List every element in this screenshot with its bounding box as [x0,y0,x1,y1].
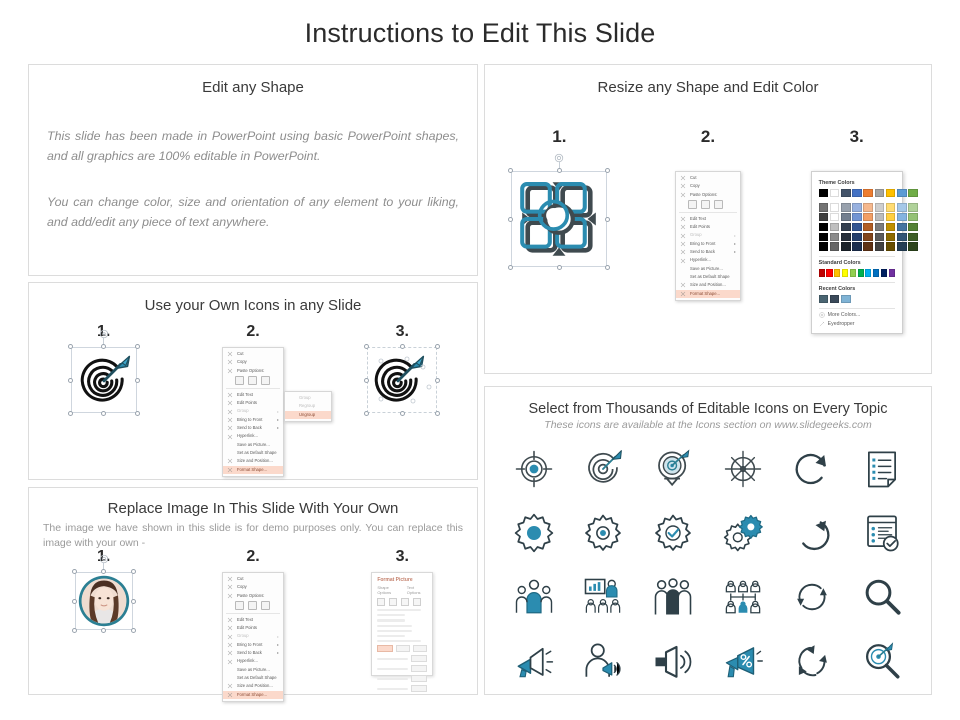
rotate-clockwise-icon [791,448,833,490]
color-swatch[interactable] [858,269,864,277]
icon-cell[interactable] [847,507,917,559]
picture-context-menu[interactable]: CutCopyPaste Options:Edit TextEdit Point… [222,572,284,702]
icon-cell[interactable] [638,443,708,495]
paste-picture-icon[interactable] [248,601,257,610]
handle-bottom-left[interactable] [508,265,513,270]
color-swatch[interactable] [897,242,907,250]
three-people-icon [652,576,694,618]
context-menu-item[interactable]: Cut [223,575,283,583]
swatch-gap [897,199,907,202]
context-menu-item[interactable]: Send to Back▸ [676,248,740,256]
color-swatch[interactable] [841,223,851,231]
palette-icon [819,312,825,318]
context-menu-item[interactable]: Group▸ [223,632,283,640]
context-menu-item-label: Size and Position... [690,282,726,288]
scissors-icon [680,175,686,181]
pane-field[interactable] [411,665,427,672]
context-menu-item[interactable]: Set as Default Shape [223,674,283,682]
color-swatch[interactable] [886,242,896,250]
paste-text-icon[interactable] [261,376,270,385]
color-swatch[interactable] [842,269,848,277]
context-menu-item[interactable]: Bring to Front▸ [676,240,740,248]
context-menu-item[interactable]: Size and Position... [223,682,283,690]
icon-cell[interactable] [778,443,848,495]
context-menu-item-label: Hyperlink... [690,257,711,263]
handle-bottom-right[interactable] [135,411,140,416]
color-swatch[interactable] [819,189,829,197]
own-icons-step-3: 3. [328,323,477,473]
fill-swatch[interactable] [377,645,393,652]
color-swatch[interactable] [875,233,885,241]
color-swatch[interactable] [826,269,832,277]
context-menu-item-label: Paste Options: [237,593,264,599]
context-menu-item[interactable]: Set as Default Shape [223,449,283,457]
chevron-right-icon: ▸ [277,425,279,431]
pane-row [377,668,408,670]
context-menu-item-label: Save as Picture... [690,266,723,272]
color-swatch[interactable] [830,242,840,250]
icon-cell[interactable] [778,507,848,559]
context-menu[interactable]: CutCopyPaste Options:Edit TextEdit Point… [222,572,284,702]
target-icon-selected[interactable] [71,347,137,413]
effects-icon[interactable] [389,598,397,606]
context-menu-item[interactable]: Bring to Front▸ [223,641,283,649]
color-swatch[interactable] [881,269,887,277]
color-picker-dropdown[interactable]: Theme Colors Standard Colors Recent Colo… [811,171,903,334]
loudspeaker-icon [652,640,694,682]
context-menu-item[interactable]: Format Shape... [223,466,283,474]
context-menu-item[interactable]: Group▸ [676,231,740,239]
color-swatch[interactable] [875,213,885,221]
color-swatch[interactable] [889,269,895,277]
context-menu-item-label: Format Shape... [237,467,267,473]
megaphone-discount-icon [722,640,764,682]
color-swatch[interactable] [841,242,851,250]
context-menu-item-label: Edit Text [237,392,253,398]
context-menu-ungroup[interactable]: CutCopyPaste Options:Edit TextEdit Point… [222,347,284,477]
color-swatch[interactable] [834,269,840,277]
color-swatch[interactable] [830,295,840,303]
context-menu-items: CutCopyPaste Options:Edit TextEdit Point… [676,174,740,298]
color-swatch[interactable] [819,269,825,277]
color-swatch[interactable] [908,213,918,221]
pane-field[interactable] [413,645,427,652]
handle-bottom-middle[interactable] [101,411,106,416]
context-menu-item-label: Edit Text [237,617,253,623]
context-menu-item-label: Size and Position... [237,458,273,464]
context-menu-items: CutCopyPaste Options:Edit TextEdit Point… [223,350,283,474]
eyedropper-icon [819,321,825,327]
color-swatch[interactable] [841,213,851,221]
step-number: 1. [552,127,566,147]
icon-cell[interactable] [638,571,708,623]
sub-selection-marks [367,347,437,413]
swatch-gap [908,199,918,202]
theme-color-column [908,189,918,251]
format-shape-icon [227,467,233,473]
context-menu-item[interactable]: Format Shape... [223,691,283,699]
color-swatch[interactable] [841,233,851,241]
empty-icon [227,675,233,681]
divider [819,282,895,283]
color-swatch[interactable] [841,203,851,211]
group-icon [227,634,233,640]
color-swatch[interactable] [875,242,885,250]
context-menu-item[interactable]: Copy [223,583,283,591]
eyedropper-item[interactable]: Eyedropper [819,321,895,327]
target-dart-icon [75,351,133,409]
color-swatch[interactable] [841,295,851,303]
icon-cell[interactable] [569,571,639,623]
context-menu-item[interactable]: Hyperlink... [676,256,740,264]
edit-shape-paragraph-1: This slide has been made in PowerPoint u… [47,126,459,166]
context-menu-item-label: Format Shape... [237,692,267,698]
paste-keep-format-icon[interactable] [688,200,697,209]
color-swatch[interactable] [886,223,896,231]
empty-icon [680,274,686,280]
color-swatch[interactable] [908,189,918,197]
handle-top-right[interactable] [605,168,610,173]
copy-icon [680,183,686,189]
standard-colors-label: Standard Colors [819,260,895,266]
color-swatch[interactable] [886,189,896,197]
handle-middle-left[interactable] [68,378,73,383]
color-swatch[interactable] [852,213,862,221]
paste-option-icons[interactable] [676,199,740,210]
replace-image-subtitle: The image we have shown in this slide is… [43,521,463,551]
color-swatch[interactable] [852,189,862,197]
gear-solid-icon [513,512,555,554]
context-menu-item-label: Edit Points [237,400,257,406]
paste-keep-format-icon[interactable] [235,601,244,610]
color-swatch[interactable] [886,203,896,211]
recent-colors-row[interactable] [819,295,895,303]
context-menu-item[interactable]: Send to Back▸ [223,649,283,657]
icon-cell[interactable] [708,443,778,495]
resize-step-1: 1. [485,127,634,357]
color-swatch[interactable] [873,269,879,277]
pane-row [377,619,405,621]
context-menu-item[interactable]: Group▸ [223,407,283,415]
refresh-circle-icon [791,512,833,554]
color-swatch[interactable] [863,213,873,221]
clipboard-icon [680,192,686,198]
panel-use-own-icons: Use your Own Icons in any Slide 1. [28,282,478,480]
handle-middle-right[interactable] [605,217,610,222]
context-menu-item-label: Paste Options: [690,192,717,198]
color-swatch[interactable] [908,223,918,231]
pane-row [377,614,405,616]
replace-image-step-1: 1. [29,548,178,688]
size-position-icon [227,683,233,689]
copy-icon [227,584,233,590]
target-icon-ungrouped[interactable] [367,347,437,413]
rotate-handle-icon[interactable] [99,554,109,564]
icon-cell[interactable] [778,571,848,623]
context-menu-item[interactable]: Save as Picture... [223,666,283,674]
context-menu-item[interactable]: Hyperlink... [223,432,283,440]
replace-image-step-2: 2. CutCopyPaste Options:Edit TextEdit Po… [178,548,327,688]
step-number: 3. [396,323,409,341]
pane-row [377,678,408,680]
pane-field[interactable] [411,675,427,682]
color-swatch[interactable] [852,242,862,250]
swatch-gap [863,199,873,202]
context-menu-item-label: Copy [237,359,247,365]
context-menu[interactable]: CutCopyPaste Options:Edit TextEdit Point… [222,347,284,477]
format-picture-pane[interactable]: Format Picture Shape Options Text Option… [371,572,433,676]
color-swatch[interactable] [875,223,885,231]
context-menu-item[interactable]: Copy [676,182,740,190]
pane-field[interactable] [411,685,427,692]
handle-bottom-left[interactable] [68,411,73,416]
color-swatch[interactable] [863,242,873,250]
icon-cell[interactable] [569,635,639,687]
paste-text-icon[interactable] [714,200,723,209]
context-menu-item[interactable]: Send to Back▸ [223,424,283,432]
pane-row [377,635,405,637]
handle-bottom-right[interactable] [605,265,610,270]
context-menu-item[interactable]: Paste Options: [676,191,740,199]
slide-canvas: Instructions to Edit This Slide Edit any… [0,0,960,720]
icon-cell[interactable] [708,571,778,623]
handle-top-right[interactable] [135,344,140,349]
context-menu-item[interactable]: Hyperlink... [223,657,283,665]
icon-cell[interactable] [847,443,917,495]
rotate-handle-icon[interactable] [99,329,109,339]
color-swatch[interactable] [830,233,840,241]
context-menu-item[interactable]: Cut [223,350,283,358]
hyperlink-icon [227,659,233,665]
icon-cell[interactable] [499,635,569,687]
color-swatch[interactable] [852,223,862,231]
format-pane-toolbar[interactable] [377,598,427,606]
context-menu-item-label: Send to Back [690,249,715,255]
standard-colors-row[interactable] [819,269,895,277]
context-menu-item[interactable]: Regroup [285,402,331,410]
paste-keep-format-icon[interactable] [235,376,244,385]
color-swatch[interactable] [863,189,873,197]
icon-grid [499,443,917,687]
format-pane-tab-text[interactable]: Text Options [407,585,428,595]
panel-title-icons: Select from Thousands of Editable Icons … [485,401,931,417]
context-menu-item-label: Group [237,633,249,639]
color-swatch[interactable] [830,223,840,231]
group-icon [680,233,686,239]
page-title: Instructions to Edit This Slide [0,18,960,49]
color-swatch[interactable] [908,233,918,241]
context-menu-item[interactable]: Set as Default Shape [676,273,740,281]
swatch-gap [886,199,896,202]
color-swatch[interactable] [897,189,907,197]
color-swatch[interactable] [863,203,873,211]
color-swatch[interactable] [897,213,907,221]
context-menu-item-label: Edit Text [690,216,706,222]
editable-shape-selected[interactable] [511,171,607,267]
pane-row [377,625,412,627]
context-menu-item[interactable]: Paste Options: [223,592,283,600]
portrait-image-selected[interactable] [75,572,133,630]
recent-colors-label: Recent Colors [819,286,895,292]
color-swatch[interactable] [908,203,918,211]
context-menu-item[interactable]: Edit Points [223,399,283,407]
theme-colors-grid[interactable] [819,189,895,251]
color-swatch[interactable] [830,213,840,221]
divider [226,613,280,614]
context-menu-item-label: Size and Position... [237,683,273,689]
context-menu-item-label: Hyperlink... [237,658,258,664]
panel-title-edit-shape: Edit any Shape [29,79,477,96]
color-swatch[interactable] [819,203,829,211]
fill-icon[interactable] [377,598,385,606]
icon-cell[interactable] [499,443,569,495]
context-menu-item-label: Ungroup [299,412,315,418]
paste-text-icon[interactable] [261,601,270,610]
team-group-icon [513,576,555,618]
group-icon [227,409,233,415]
context-menu-item[interactable]: Save as Picture... [223,441,283,449]
more-colors-item[interactable]: More Colors... [819,312,895,318]
color-swatch[interactable] [819,213,829,221]
color-swatch[interactable] [865,269,871,277]
context-menu-item-label: Set as Default Shape [237,675,277,681]
color-swatch[interactable] [819,233,829,241]
scissors-icon [227,576,233,582]
color-picker[interactable]: Theme Colors Standard Colors Recent Colo… [811,171,903,334]
format-shape-icon [227,692,233,698]
color-swatch[interactable] [886,233,896,241]
picture-icon[interactable] [413,598,421,606]
handle-bottom-middle[interactable] [557,265,562,270]
swatch-gap [830,199,840,202]
swatch-gap [841,199,851,202]
context-menu-item-label: Set as Default Shape [690,274,730,280]
presentation-audience-icon [582,576,624,618]
panel-title-own-icons: Use your Own Icons in any Slide [29,297,477,314]
context-menu-item[interactable]: Size and Position... [223,457,283,465]
gears-double-icon [722,512,764,554]
context-menu-item[interactable]: Size and Position... [676,281,740,289]
icon-cell[interactable] [569,507,639,559]
context-menu-item-label: Edit Points [237,625,257,631]
color-swatch[interactable] [875,203,885,211]
color-swatch[interactable] [852,203,862,211]
icon-cell[interactable] [847,571,917,623]
empty-icon [289,403,295,409]
color-swatch[interactable] [830,189,840,197]
context-menu-item[interactable]: Copy [223,358,283,366]
shape-context-menu[interactable]: CutCopyPaste Options:Edit TextEdit Point… [675,171,741,301]
pane-field[interactable] [396,645,410,652]
pane-field[interactable] [411,655,427,662]
edit-shape-paragraph-2: You can change color, size and orientati… [47,192,459,232]
resize-step-3: 3. Theme Colors Standard Colors Recent C… [782,127,931,357]
paste-picture-icon[interactable] [248,376,257,385]
group-submenu[interactable]: GroupRegroupUngroup [284,391,332,422]
rotate-handle-icon[interactable] [554,153,564,163]
handle-top-left[interactable] [68,344,73,349]
color-swatch[interactable] [863,223,873,231]
context-menu-item[interactable]: Edit Points [676,223,740,231]
swatch-gap [819,199,829,202]
context-menu-item[interactable]: Save as Picture... [676,265,740,273]
context-menu-item-label: Bring to Front [237,642,262,648]
context-menu-item[interactable]: Bring to Front▸ [223,416,283,424]
paste-picture-icon[interactable] [701,200,710,209]
color-swatch[interactable] [841,189,851,197]
color-swatch[interactable] [863,233,873,241]
icon-cell[interactable] [778,635,848,687]
context-menu-item-label: Save as Picture... [237,667,270,673]
icon-cell[interactable] [708,635,778,687]
icon-cell[interactable] [499,507,569,559]
color-swatch[interactable] [897,223,907,231]
color-swatch[interactable] [830,203,840,211]
bring-front-icon [227,417,233,423]
empty-icon [289,395,295,401]
context-menu-item[interactable]: Edit Text [676,215,740,223]
size-icon[interactable] [401,598,409,606]
chevron-right-icon: ▸ [277,650,279,656]
theme-color-column [886,189,896,251]
color-swatch[interactable] [897,233,907,241]
context-menu-item[interactable]: Cut [676,174,740,182]
context-menu-item[interactable]: Group [285,394,331,402]
color-swatch[interactable] [850,269,856,277]
context-menu-item-label: Edit Points [690,224,710,230]
person-announce-icon [582,640,624,682]
color-swatch[interactable] [897,203,907,211]
context-menu[interactable]: CutCopyPaste Options:Edit TextEdit Point… [675,171,741,301]
panel-replace-image: Replace Image In This Slide With Your Ow… [28,487,478,695]
paste-option-icons[interactable] [223,600,283,611]
color-swatch[interactable] [819,295,829,303]
context-menu-item[interactable]: Edit Text [223,616,283,624]
color-swatch[interactable] [886,213,896,221]
icon-cell[interactable] [847,635,917,687]
color-swatch[interactable] [819,223,829,231]
context-menu-item[interactable]: Format Shape... [676,290,740,298]
format-pane-tab-shape[interactable]: Shape Options [377,585,401,595]
color-swatch[interactable] [908,242,918,250]
icon-cell[interactable] [638,507,708,559]
context-menu-item[interactable]: Paste Options: [223,367,283,375]
context-menu-item[interactable]: Ungroup [285,411,331,419]
color-swatch[interactable] [819,242,829,250]
color-swatch[interactable] [875,189,885,197]
chevron-right-icon: ▸ [277,417,279,423]
context-menu-item-label: Paste Options: [237,368,264,374]
icons-subtitle: These icons are available at the Icons s… [485,419,931,431]
color-swatch[interactable] [852,233,862,241]
empty-icon [227,667,233,673]
step-number: 3. [396,548,409,566]
magnifier-target-icon [861,640,903,682]
handle-middle-right[interactable] [135,378,140,383]
icon-cell[interactable] [638,635,708,687]
icon-cell[interactable] [499,571,569,623]
context-menu-item[interactable]: Edit Points [223,624,283,632]
paste-option-icons[interactable] [223,375,283,386]
step-number: 3. [850,127,864,147]
icon-cell[interactable] [569,443,639,495]
context-menu-item[interactable]: Edit Text [223,391,283,399]
icon-cell[interactable] [708,507,778,559]
pane-row [377,688,408,690]
panel-editable-icons: Select from Thousands of Editable Icons … [484,386,932,695]
context-menu-item-label: Hyperlink... [237,433,258,439]
step-number: 2. [246,548,259,566]
